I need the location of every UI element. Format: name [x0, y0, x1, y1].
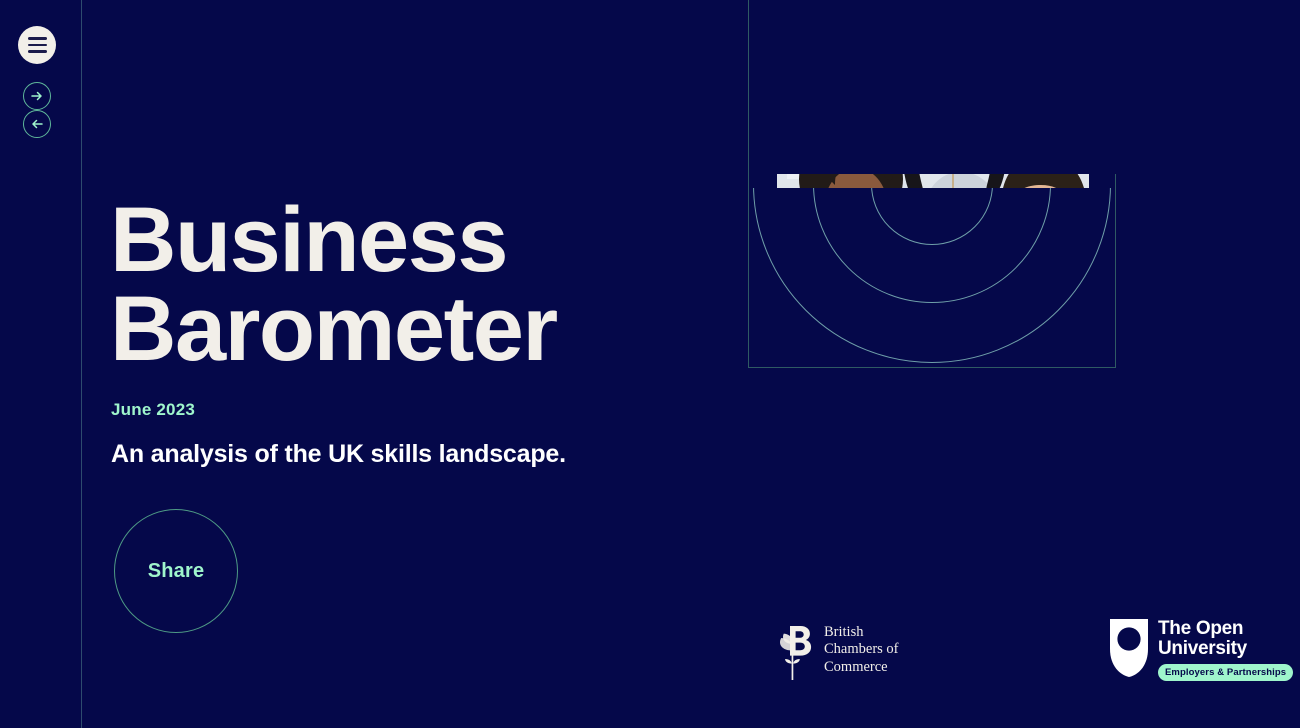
arrow-left-icon: [30, 117, 44, 131]
ou-logo-text-block: The Open University Employers & Partners…: [1158, 617, 1300, 681]
page-subtitle: An analysis of the UK skills landscape.: [111, 440, 566, 469]
hamburger-menu-icon-bar: [28, 37, 47, 40]
bcc-logo-line-3: Commerce: [824, 659, 888, 675]
hamburger-menu-icon-bar: [28, 44, 47, 47]
publication-date: June 2023: [111, 400, 195, 420]
page-title-line-2: Barometer: [110, 285, 730, 374]
hamburger-menu-button[interactable]: [18, 26, 56, 64]
open-university-logo: The Open University Employers & Partners…: [1108, 617, 1300, 681]
ou-shield-icon: [1108, 617, 1150, 679]
previous-slide-button[interactable]: [23, 110, 51, 138]
next-slide-button[interactable]: [23, 82, 51, 110]
british-chambers-of-commerce-logo: British Chambers of Commerce: [771, 620, 899, 680]
ou-logo-line-2: University: [1158, 638, 1247, 659]
bcc-logo-line-1: British: [824, 624, 863, 640]
graphic-cell-partner-logos: [748, 0, 1116, 174]
left-rail: [0, 0, 82, 728]
share-button-label: Share: [148, 560, 205, 583]
page-title-line-1: Business: [110, 196, 730, 285]
ou-logo-line-1: The Open: [1158, 618, 1243, 639]
slide-canvas: Business Barometer June 2023 An analysis…: [0, 0, 1300, 728]
ou-logo-name: The Open University: [1158, 618, 1247, 659]
hero-section: Business Barometer June 2023 An analysis…: [82, 0, 748, 728]
arrow-right-icon: [30, 89, 44, 103]
bcc-plant-b-icon: [771, 620, 815, 680]
hamburger-menu-icon-bar: [28, 50, 47, 53]
bcc-logo-text: British Chambers of Commerce: [824, 624, 899, 675]
share-button[interactable]: Share: [114, 509, 238, 633]
page-title: Business Barometer: [110, 196, 730, 374]
ou-logo-badge: Employers & Partnerships: [1158, 664, 1293, 681]
bcc-logo-line-2: Chambers of: [824, 641, 899, 657]
